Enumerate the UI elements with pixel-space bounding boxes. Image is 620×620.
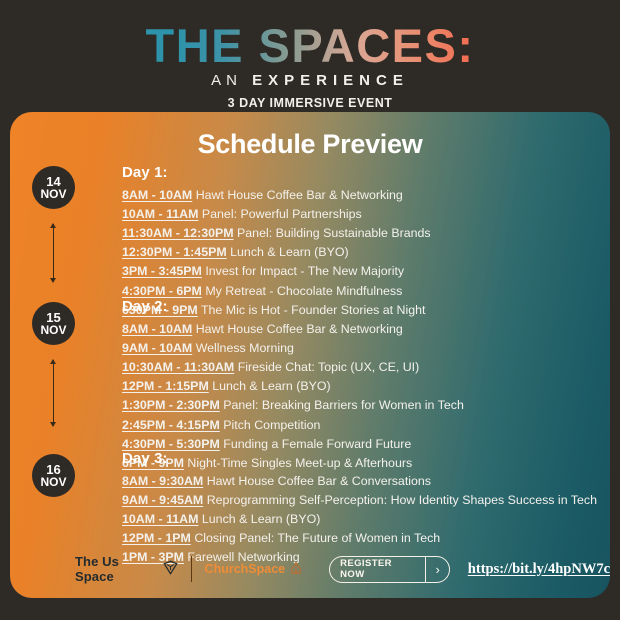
date-badge-month: NOV — [40, 324, 66, 336]
date-badge: 15 NOV — [32, 302, 75, 345]
timeline-connector-arrow — [53, 360, 54, 426]
schedule-item: 8AM - 10AM Hawt House Coffee Bar & Netwo… — [122, 321, 600, 338]
schedule-item: 10AM - 11AM Lunch & Learn (BYO) — [122, 511, 600, 528]
date-badge: 14 NOV — [32, 166, 75, 209]
schedule-item-time: 10AM - 11AM — [122, 512, 198, 526]
schedule-item-name: Hawt House Coffee Bar & Networking — [196, 322, 403, 336]
day-block: 15 NOV Day 2: 8AM - 10AM Hawt House Coff… — [10, 298, 610, 450]
day-label: Day 3: — [122, 450, 600, 467]
schedule-item-name: Lunch & Learn (BYO) — [202, 512, 320, 526]
schedule-item-time: 8AM - 9:30AM — [122, 474, 203, 488]
schedule-item-name: Lunch & Learn (BYO) — [230, 245, 348, 259]
schedule-item-time: 1:30PM - 2:30PM — [122, 398, 220, 412]
schedule-item-name: My Retreat - Chocolate Mindfulness — [205, 284, 402, 298]
schedule-item-time: 4:30PM - 6PM — [122, 284, 202, 298]
schedule-item-time: 12PM - 1PM — [122, 531, 191, 545]
schedule-card: Schedule Preview 14 NOV Day 1: 8AM - 10A… — [10, 112, 610, 598]
brand-subtitle-an: AN — [211, 72, 242, 89]
schedule-item: 8AM - 9:30AM Hawt House Coffee Bar & Con… — [122, 473, 600, 490]
schedule-timeline: 14 NOV Day 1: 8AM - 10AM Hawt House Coff… — [10, 164, 610, 560]
schedule-item-time: 12:30PM - 1:45PM — [122, 245, 227, 259]
date-badge-month: NOV — [40, 476, 66, 488]
schedule-item: 10AM - 11AM Panel: Powerful Partnerships — [122, 206, 600, 223]
schedule-item-time: 8AM - 10AM — [122, 322, 192, 336]
register-now-label: REGISTER NOW — [330, 558, 425, 580]
logo-us-space-label: The Us Space — [75, 554, 158, 584]
logo-churchspace[interactable]: ChurchSpace — [205, 561, 304, 578]
chevron-right-icon: › — [426, 563, 448, 576]
schedule-item-name: Fireside Chat: Topic (UX, CE, UI) — [238, 360, 420, 374]
church-building-icon — [289, 561, 303, 578]
schedule-item-name: Hawt House Coffee Bar & Networking — [196, 188, 403, 202]
schedule-item-name: Invest for Impact - The New Majority — [205, 264, 404, 278]
date-badge: 16 NOV — [32, 454, 75, 497]
schedule-item: 3PM - 3:45PM Invest for Impact - The New… — [122, 263, 600, 280]
schedule-item: 9AM - 9:45AM Reprogramming Self-Percepti… — [122, 492, 600, 509]
schedule-item: 1:30PM - 2:30PM Panel: Breaking Barriers… — [122, 397, 600, 414]
schedule-item: 12PM - 1PM Closing Panel: The Future of … — [122, 530, 600, 547]
schedule-item-name: Closing Panel: The Future of Women in Te… — [194, 531, 440, 545]
day-label: Day 1: — [122, 164, 600, 181]
schedule-item-name: Reprogramming Self-Perception: How Ident… — [207, 493, 597, 507]
day-rail: 16 NOV — [10, 450, 122, 560]
brand-subtitle-experience: EXPERIENCE — [252, 72, 409, 89]
schedule-item: 12PM - 1:15PM Lunch & Learn (BYO) — [122, 378, 600, 395]
day-rail: 14 NOV — [10, 164, 122, 298]
registration-url-link[interactable]: https://bit.ly/4hpNW7c — [468, 561, 610, 578]
day-block: 14 NOV Day 1: 8AM - 10AM Hawt House Coff… — [10, 164, 610, 298]
schedule-item-name: Panel: Powerful Partnerships — [202, 207, 362, 221]
day-label: Day 2: — [122, 298, 600, 315]
date-badge-day: 15 — [46, 311, 60, 324]
schedule-item-time: 12PM - 1:15PM — [122, 379, 209, 393]
poster-root: THE SPACES: AN EXPERIENCE 3 DAY IMMERSIV… — [0, 0, 620, 620]
day-rail: 15 NOV — [10, 298, 122, 450]
schedule-item: 8AM - 10AM Hawt House Coffee Bar & Netwo… — [122, 187, 600, 204]
schedule-item: 11:30AM - 12:30PM Panel: Building Sustai… — [122, 225, 600, 242]
brand-subtitle: AN EXPERIENCE — [0, 72, 620, 89]
day-content: Day 2: 8AM - 10AM Hawt House Coffee Bar … — [122, 298, 610, 450]
schedule-item: 12:30PM - 1:45PM Lunch & Learn (BYO) — [122, 244, 600, 261]
day-content: Day 1: 8AM - 10AM Hawt House Coffee Bar … — [122, 164, 610, 298]
timeline-connector-arrow — [53, 224, 54, 282]
logo-churchspace-label: ChurchSpace — [205, 562, 286, 576]
event-line-1: 3 DAY IMMERSIVE EVENT — [0, 96, 620, 110]
schedule-item-time: 9AM - 9:45AM — [122, 493, 203, 507]
schedule-item-time: 4:30PM - 5:30PM — [122, 437, 220, 451]
day-block: 16 NOV Day 3: 8AM - 9:30AM Hawt House Co… — [10, 450, 610, 560]
day-content: Day 3: 8AM - 9:30AM Hawt House Coffee Ba… — [122, 450, 610, 560]
brand-title: THE SPACES: — [0, 0, 620, 69]
schedule-item-name: Panel: Breaking Barriers for Women in Te… — [223, 398, 464, 412]
date-badge-day: 14 — [46, 175, 60, 188]
schedule-item-time: 10:30AM - 11:30AM — [122, 360, 234, 374]
schedule-item-time: 11:30AM - 12:30PM — [122, 226, 234, 240]
card-footer: The Us Space ChurchSpace — [10, 554, 610, 584]
logo-the-us-space[interactable]: The Us Space — [75, 554, 178, 584]
schedule-preview-title: Schedule Preview — [10, 112, 610, 160]
register-now-button[interactable]: REGISTER NOW › — [329, 556, 450, 583]
schedule-item-time: 3PM - 3:45PM — [122, 264, 202, 278]
schedule-item-name: Funding a Female Forward Future — [223, 437, 411, 451]
schedule-item: 2:45PM - 4:15PM Pitch Competition — [122, 417, 600, 434]
schedule-item-time: 2:45PM - 4:15PM — [122, 418, 220, 432]
schedule-item-name: Hawt House Coffee Bar & Conversations — [207, 474, 431, 488]
schedule-item-time: 9AM - 10AM — [122, 341, 192, 355]
date-badge-day: 16 — [46, 463, 60, 476]
schedule-item-name: Panel: Building Sustainable Brands — [237, 226, 431, 240]
schedule-item-name: Pitch Competition — [223, 418, 320, 432]
schedule-item: 9AM - 10AM Wellness Morning — [122, 340, 600, 357]
schedule-item-name: Lunch & Learn (BYO) — [212, 379, 330, 393]
poster-header: THE SPACES: AN EXPERIENCE 3 DAY IMMERSIV… — [0, 0, 620, 112]
schedule-item-name: Wellness Morning — [196, 341, 294, 355]
shield-crest-icon — [163, 560, 178, 578]
schedule-item-time: 8AM - 10AM — [122, 188, 192, 202]
date-badge-month: NOV — [40, 188, 66, 200]
schedule-item-time: 10AM - 11AM — [122, 207, 198, 221]
schedule-item: 10:30AM - 11:30AM Fireside Chat: Topic (… — [122, 359, 600, 376]
footer-divider — [191, 556, 192, 582]
